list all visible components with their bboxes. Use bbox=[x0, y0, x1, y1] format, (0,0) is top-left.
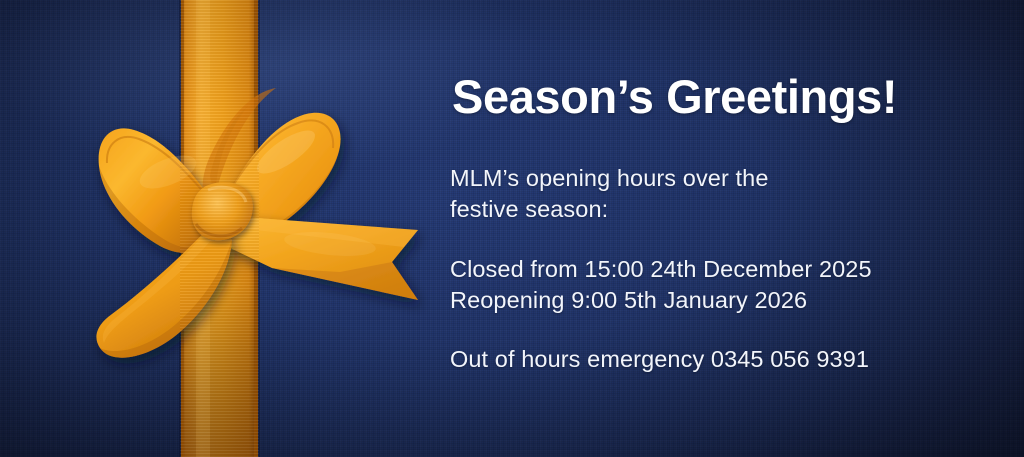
closure-dates: Closed from 15:00 24th December 2025 Reo… bbox=[450, 254, 872, 316]
reopening-line: Reopening 9:00 5th January 2026 bbox=[450, 285, 872, 316]
opening-hours-intro: MLM’s opening hours over the festive sea… bbox=[450, 163, 769, 225]
page-title: Season’s Greetings! bbox=[452, 72, 897, 121]
greeting-card: Season’s Greetings! MLM’s opening hours … bbox=[0, 0, 1024, 457]
message-panel: Season’s Greetings! MLM’s opening hours … bbox=[450, 0, 990, 457]
closed-from-line: Closed from 15:00 24th December 2025 bbox=[450, 254, 872, 285]
emergency-contact-line: Out of hours emergency 0345 056 9391 bbox=[450, 344, 869, 375]
emergency-contact: Out of hours emergency 0345 056 9391 bbox=[450, 344, 869, 375]
gift-bow-artwork bbox=[0, 0, 470, 457]
opening-hours-intro-line-2: festive season: bbox=[450, 194, 769, 225]
opening-hours-intro-line-1: MLM’s opening hours over the bbox=[450, 163, 769, 194]
